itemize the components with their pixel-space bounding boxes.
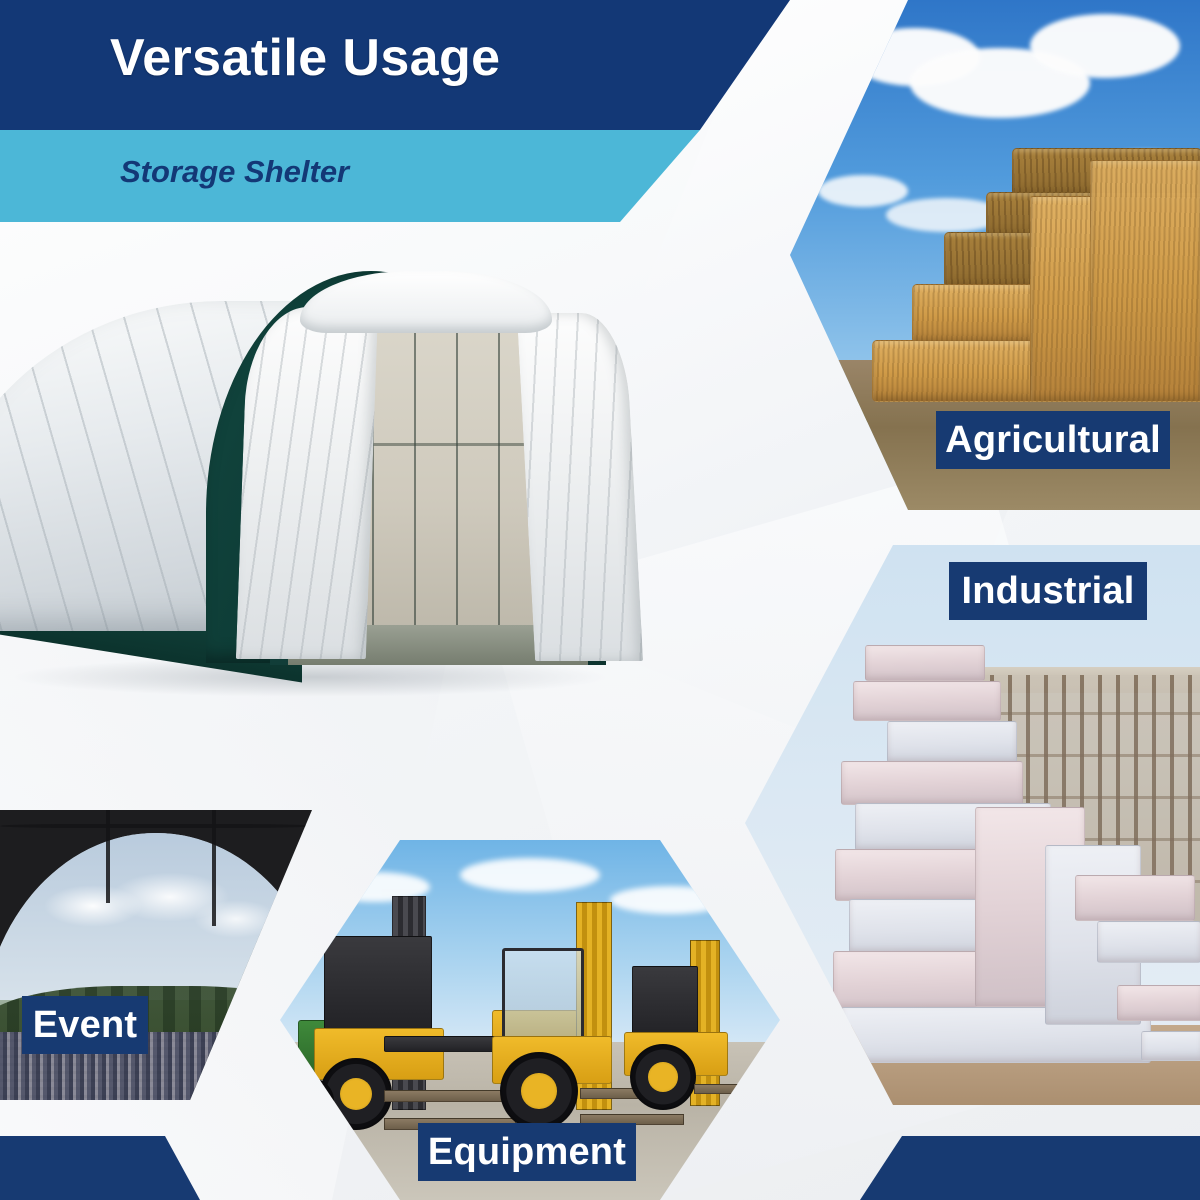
fork [384,1090,516,1102]
shelter-door-right [517,313,643,661]
cloud [460,858,600,892]
cab [502,948,584,1044]
tyre [500,1052,578,1130]
label-equipment[interactable]: Equipment [418,1123,636,1181]
foam-block [1141,1031,1200,1061]
page-subtitle: Storage Shelter [120,154,349,190]
foam-block [1075,875,1195,921]
dome-rib [106,810,110,903]
foam-block [1117,985,1200,1021]
cloud [1030,14,1180,78]
foam-block [887,721,1017,763]
label-industrial[interactable]: Industrial [949,562,1147,620]
footer-accent-right [860,1136,1200,1200]
tyre [630,1044,696,1110]
cage [324,936,432,1032]
title-band: Versatile Usage [0,0,790,130]
foam-block [841,761,1023,805]
foam-block [1097,921,1200,963]
dome-rib [212,810,216,926]
cloud [818,175,908,207]
product-shelter-image [0,265,770,695]
subtitle-band: Storage Shelter [0,130,700,222]
page-title: Versatile Usage [110,28,500,88]
dome-rib [0,824,312,828]
hay-bale-face [1090,160,1200,402]
cab [632,966,698,1038]
label-agricultural[interactable]: Agricultural [936,411,1170,469]
shelter-door-left [236,307,378,659]
infographic-canvas: Versatile Usage Storage Shelter Agricult… [0,0,1200,1200]
label-event[interactable]: Event [22,996,148,1054]
foam-block [865,645,985,681]
foam-block [853,681,1001,721]
